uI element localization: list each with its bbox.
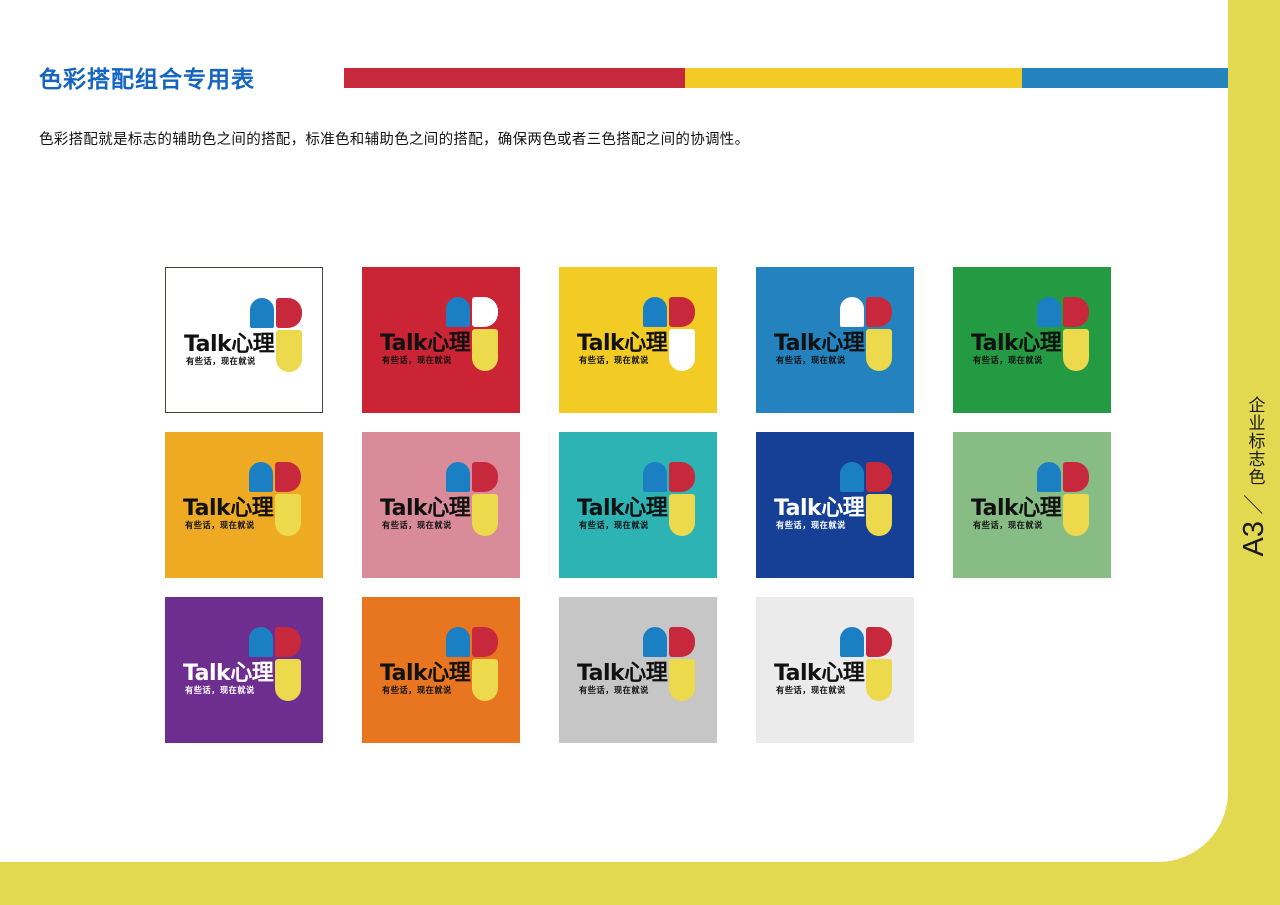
color-swatch-brand-blue[interactable]: Talk心理有些话，现在就说 — [756, 267, 914, 413]
logo-petal-yellow-icon — [275, 659, 301, 701]
swatch-row: Talk心理有些话，现在就说Talk心理有些话，现在就说Talk心理有些话，现在… — [165, 267, 1165, 413]
logo-petal-yellow-icon — [275, 494, 301, 536]
logo-tagline: 有些话，现在就说 — [185, 522, 255, 531]
logo-petal-yellow-icon — [866, 494, 892, 536]
logo-petal-red-icon — [472, 627, 498, 657]
title-accent-bar — [344, 68, 1228, 88]
logo-petal-yellow-icon — [472, 329, 498, 371]
color-swatch-amber[interactable]: Talk心理有些话，现在就说 — [165, 432, 323, 578]
logo-wordmark: Talk心理 — [971, 498, 1061, 520]
logo-petal-red-icon — [276, 298, 302, 328]
logo-petal-blue-icon — [643, 462, 667, 492]
logo-petal-yellow-icon — [669, 659, 695, 701]
logo-lockup: Talk心理有些话，现在就说 — [380, 627, 504, 717]
logo-petal-red-icon — [669, 462, 695, 492]
logo-lockup: Talk心理有些话，现在就说 — [380, 462, 504, 552]
color-swatch-purple[interactable]: Talk心理有些话，现在就说 — [165, 597, 323, 743]
logo-lockup: Talk心理有些话，现在就说 — [380, 297, 504, 387]
logo-wordmark: Talk心理 — [380, 663, 470, 685]
logo-lockup: Talk心理有些话，现在就说 — [184, 298, 308, 388]
logo-petal-blue-icon — [446, 627, 470, 657]
logo-petal-red-icon — [275, 462, 301, 492]
side-label-text: 企业标志色 — [1246, 396, 1263, 486]
logo-tagline: 有些话，现在就说 — [579, 687, 649, 696]
logo-petal-red-icon — [866, 627, 892, 657]
page-title: 色彩搭配组合专用表 — [39, 60, 255, 94]
logo-petal-yellow-icon — [472, 659, 498, 701]
logo-petal-blue-icon — [840, 297, 864, 327]
logo-petal-red-icon — [275, 627, 301, 657]
logo-tagline: 有些话，现在就说 — [382, 687, 452, 696]
color-swatch-teal[interactable]: Talk心理有些话，现在就说 — [559, 432, 717, 578]
logo-petal-blue-icon — [643, 297, 667, 327]
logo-petal-blue-icon — [446, 462, 470, 492]
logo-tagline: 有些话，现在就说 — [776, 522, 846, 531]
color-swatch-gray[interactable]: Talk心理有些话，现在就说 — [559, 597, 717, 743]
logo-wordmark: Talk心理 — [183, 498, 273, 520]
logo-petal-red-icon — [866, 297, 892, 327]
logo-petal-blue-icon — [1037, 297, 1061, 327]
logo-petal-yellow-icon — [669, 494, 695, 536]
logo-lockup: Talk心理有些话，现在就说 — [971, 297, 1095, 387]
logo-tagline: 有些话，现在就说 — [776, 687, 846, 696]
logo-petal-blue-icon — [250, 298, 274, 328]
accent-segment-red — [344, 68, 685, 88]
color-swatch-navy[interactable]: Talk心理有些话，现在就说 — [756, 432, 914, 578]
color-swatch-white[interactable]: Talk心理有些话，现在就说 — [165, 267, 323, 413]
logo-petal-yellow-icon — [866, 329, 892, 371]
logo-tagline: 有些话，现在就说 — [185, 687, 255, 696]
logo-wordmark: Talk心理 — [184, 334, 274, 356]
color-swatch-rose[interactable]: Talk心理有些话，现在就说 — [362, 432, 520, 578]
logo-lockup: Talk心理有些话，现在就说 — [183, 462, 307, 552]
logo-lockup: Talk心理有些话，现在就说 — [774, 297, 898, 387]
side-label-separator: ／ — [1240, 495, 1269, 515]
logo-petal-blue-icon — [1037, 462, 1061, 492]
logo-lockup: Talk心理有些话，现在就说 — [577, 297, 701, 387]
logo-petal-blue-icon — [840, 462, 864, 492]
logo-petal-blue-icon — [249, 462, 273, 492]
logo-petal-blue-icon — [840, 627, 864, 657]
side-label: 企业标志色 ／ A3 — [1232, 396, 1276, 576]
logo-wordmark: Talk心理 — [774, 498, 864, 520]
logo-tagline: 有些话，现在就说 — [382, 357, 452, 366]
logo-lockup: Talk心理有些话，现在就说 — [577, 462, 701, 552]
logo-petal-yellow-icon — [276, 330, 302, 372]
color-swatch-green[interactable]: Talk心理有些话，现在就说 — [953, 267, 1111, 413]
logo-wordmark: Talk心理 — [774, 663, 864, 685]
page-root: 色彩搭配组合专用表 色彩搭配就是标志的辅助色之间的搭配，标准色和辅助色之间的搭配… — [0, 0, 1280, 905]
logo-tagline: 有些话，现在就说 — [973, 357, 1043, 366]
logo-petal-red-icon — [1063, 462, 1089, 492]
color-swatch-brand-red[interactable]: Talk心理有些话，现在就说 — [362, 267, 520, 413]
logo-lockup: Talk心理有些话，现在就说 — [183, 627, 307, 717]
logo-wordmark: Talk心理 — [380, 333, 470, 355]
logo-petal-red-icon — [866, 462, 892, 492]
logo-petal-blue-icon — [643, 627, 667, 657]
color-swatch-brand-yellow[interactable]: Talk心理有些话，现在就说 — [559, 267, 717, 413]
accent-segment-blue — [1022, 68, 1228, 88]
logo-wordmark: Talk心理 — [577, 663, 667, 685]
logo-wordmark: Talk心理 — [380, 498, 470, 520]
logo-petal-red-icon — [1063, 297, 1089, 327]
logo-tagline: 有些话，现在就说 — [382, 522, 452, 531]
logo-wordmark: Talk心理 — [971, 333, 1061, 355]
logo-petal-blue-icon — [249, 627, 273, 657]
swatch-row: Talk心理有些话，现在就说Talk心理有些话，现在就说Talk心理有些话，现在… — [165, 597, 1165, 743]
logo-petal-red-icon — [669, 627, 695, 657]
logo-tagline: 有些话，现在就说 — [579, 522, 649, 531]
color-swatch-sage-green[interactable]: Talk心理有些话，现在就说 — [953, 432, 1111, 578]
logo-wordmark: Talk心理 — [183, 663, 273, 685]
logo-petal-blue-icon — [446, 297, 470, 327]
color-swatch-light-gray[interactable]: Talk心理有些话，现在就说 — [756, 597, 914, 743]
logo-wordmark: Talk心理 — [577, 333, 667, 355]
logo-tagline: 有些话，现在就说 — [579, 357, 649, 366]
page-description: 色彩搭配就是标志的辅助色之间的搭配，标准色和辅助色之间的搭配，确保两色或者三色搭… — [39, 128, 749, 149]
logo-petal-yellow-icon — [1063, 329, 1089, 371]
color-combination-grid: Talk心理有些话，现在就说Talk心理有些话，现在就说Talk心理有些话，现在… — [165, 267, 1165, 762]
logo-petal-red-icon — [472, 297, 498, 327]
logo-petal-yellow-icon — [866, 659, 892, 701]
logo-lockup: Talk心理有些话，现在就说 — [774, 627, 898, 717]
logo-petal-yellow-icon — [1063, 494, 1089, 536]
logo-tagline: 有些话，现在就说 — [186, 358, 256, 367]
side-label-code: A3 — [1238, 521, 1271, 556]
logo-petal-yellow-icon — [472, 494, 498, 536]
logo-lockup: Talk心理有些话，现在就说 — [577, 627, 701, 717]
logo-petal-red-icon — [669, 297, 695, 327]
logo-lockup: Talk心理有些话，现在就说 — [774, 462, 898, 552]
bottom-frame-bar — [0, 862, 1280, 905]
swatch-row: Talk心理有些话，现在就说Talk心理有些话，现在就说Talk心理有些话，现在… — [165, 432, 1165, 578]
logo-lockup: Talk心理有些话，现在就说 — [971, 462, 1095, 552]
logo-petal-yellow-icon — [669, 329, 695, 371]
logo-wordmark: Talk心理 — [577, 498, 667, 520]
accent-segment-yellow — [685, 68, 1022, 88]
logo-petal-red-icon — [472, 462, 498, 492]
logo-wordmark: Talk心理 — [774, 333, 864, 355]
color-swatch-orange[interactable]: Talk心理有些话，现在就说 — [362, 597, 520, 743]
logo-tagline: 有些话，现在就说 — [776, 357, 846, 366]
logo-tagline: 有些话，现在就说 — [973, 522, 1043, 531]
